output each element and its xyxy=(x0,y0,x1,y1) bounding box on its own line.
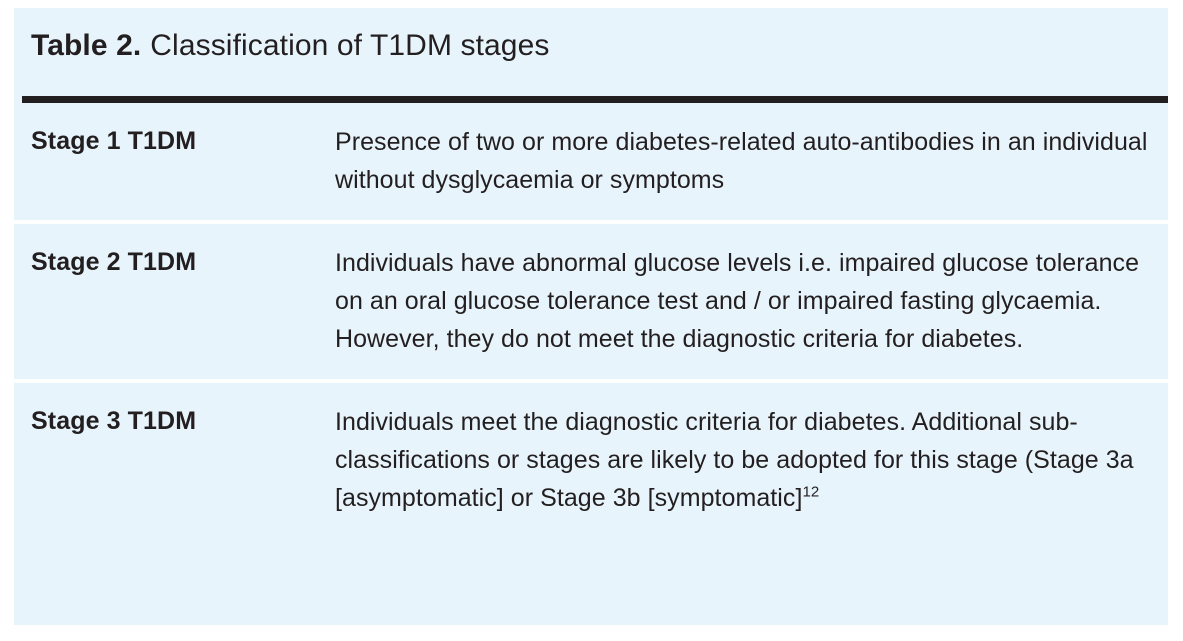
row-description-stage-1: Presence of two or more diabetes-related… xyxy=(335,123,1168,199)
table-caption-title: Classification of T1DM stages xyxy=(150,29,549,62)
reference-superscript: 12 xyxy=(802,484,819,501)
row-description-text: Presence of two or more diabetes-related… xyxy=(335,128,1147,194)
table-caption-label: Table 2. xyxy=(31,29,141,62)
table-row: Stage 3 T1DM Individuals meet the diagno… xyxy=(14,379,1168,538)
row-label-stage-2: Stage 2 T1DM xyxy=(14,244,335,282)
row-description-stage-2: Individuals have abnormal glucose levels… xyxy=(335,244,1168,358)
row-description-stage-3: Individuals meet the diagnostic criteria… xyxy=(335,403,1168,517)
table-row: Stage 2 T1DM Individuals have abnormal g… xyxy=(14,220,1168,379)
table-panel: Table 2.Classification of T1DM stages St… xyxy=(14,8,1168,625)
row-description-text: Individuals have abnormal glucose levels… xyxy=(335,249,1139,353)
table-caption: Table 2.Classification of T1DM stages xyxy=(31,29,549,63)
table-header-rule xyxy=(22,96,1168,103)
row-label-stage-1: Stage 1 T1DM xyxy=(14,123,335,161)
table-row: Stage 1 T1DM Presence of two or more dia… xyxy=(14,103,1168,220)
table-body: Stage 1 T1DM Presence of two or more dia… xyxy=(14,103,1168,538)
row-description-text: Individuals meet the diagnostic criteria… xyxy=(335,408,1134,512)
row-label-stage-3: Stage 3 T1DM xyxy=(14,403,335,441)
